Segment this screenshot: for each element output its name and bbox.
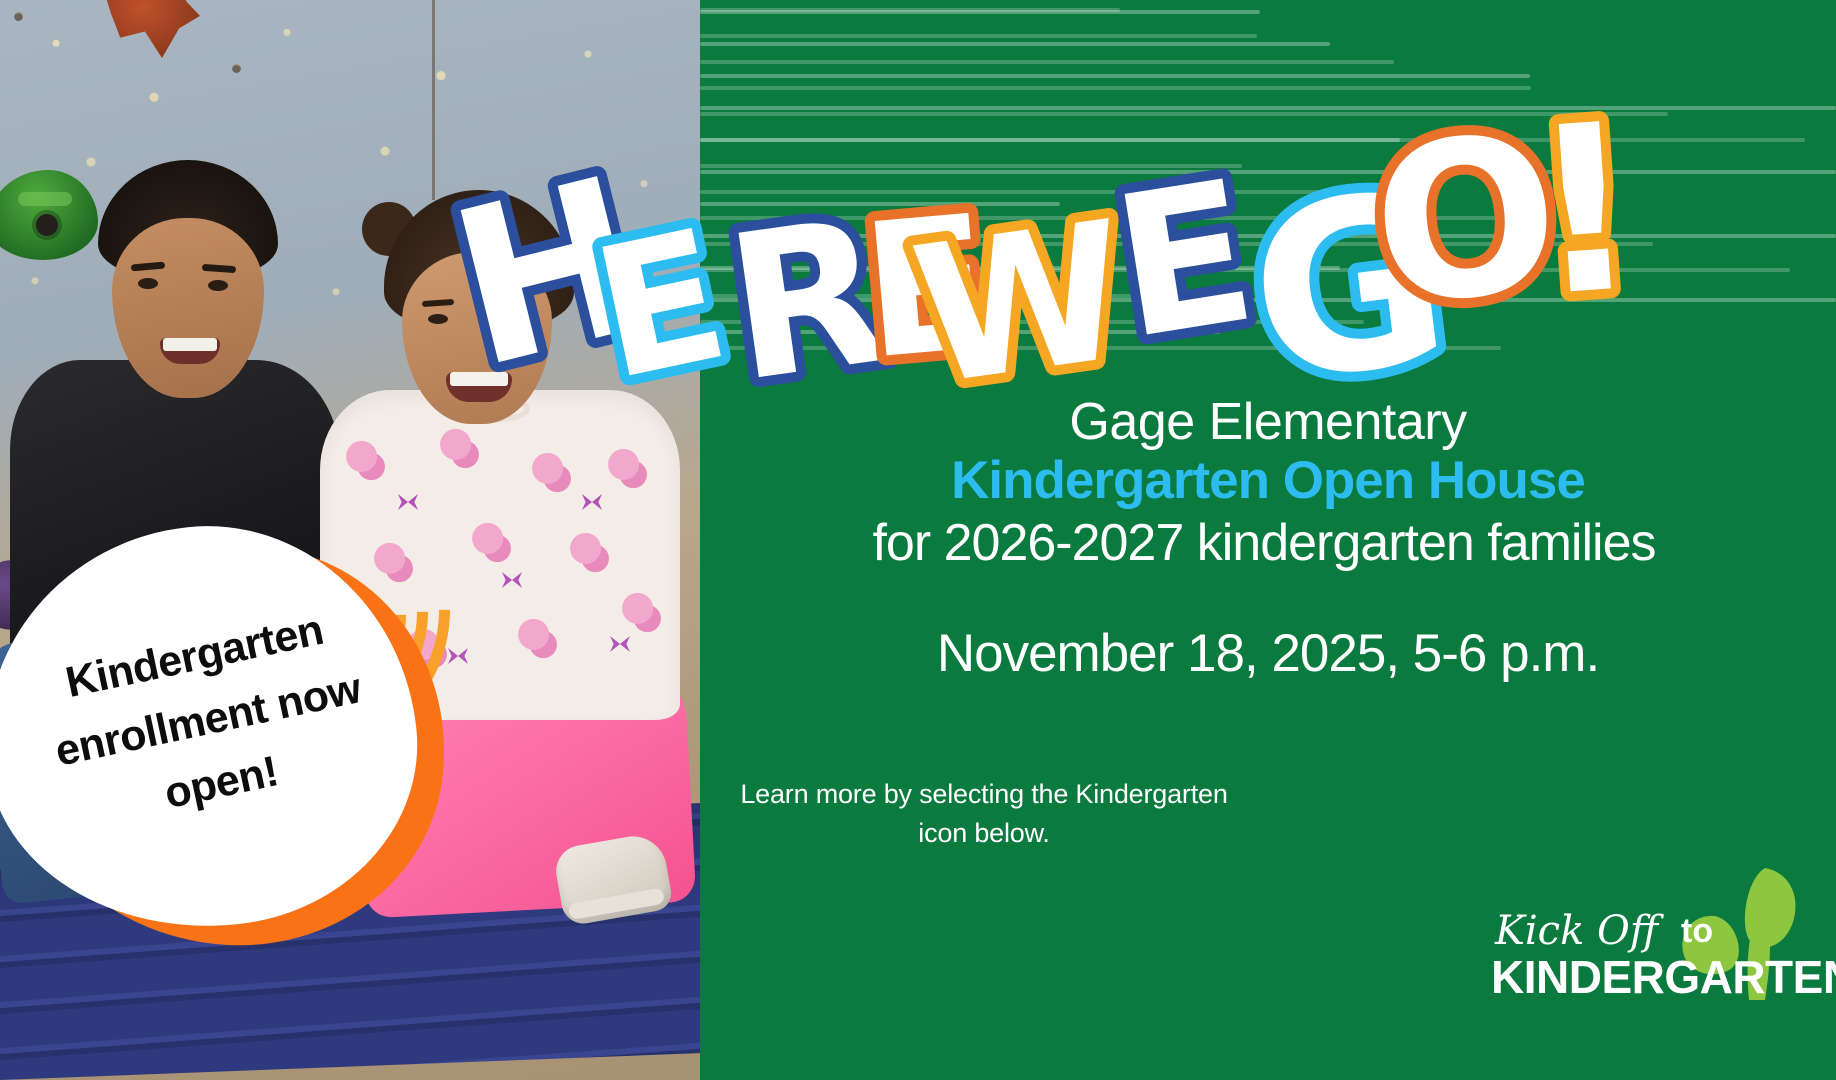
event-instructions: Learn more by selecting the Kindergarten… (724, 775, 1244, 853)
headline-here-we-go: HEREWEGO! (0, 0, 1836, 330)
flyer-canvas: HEREWEGO! Gage Elementary Kindergarten O… (0, 0, 1836, 1080)
svg-text:!: ! (1524, 75, 1647, 349)
unicorn-pattern-motif (606, 446, 650, 492)
headline-letter-exclam: ! (1428, 2, 1740, 379)
event-audience: for 2026-2027 kindergarten families (692, 513, 1836, 573)
logo-line-kindergarten: KINDERGARTEN (1491, 950, 1836, 1004)
event-datetime: November 18, 2025, 5-6 p.m. (700, 623, 1836, 684)
unicorn-pattern-motif (568, 530, 612, 576)
unicorn-pattern-motif (620, 590, 664, 636)
kick-off-to-kindergarten-logo: Kick Off to KINDERGARTEN (1485, 880, 1815, 1010)
logo-word-to: to (1681, 912, 1713, 951)
enrollment-callout: Kindergarten enrollment now open! (0, 455, 550, 1080)
butterfly-pattern-motif (582, 494, 602, 510)
logo-line-kick-off: Kick Off (1495, 908, 1658, 954)
butterfly-pattern-motif (610, 636, 630, 652)
